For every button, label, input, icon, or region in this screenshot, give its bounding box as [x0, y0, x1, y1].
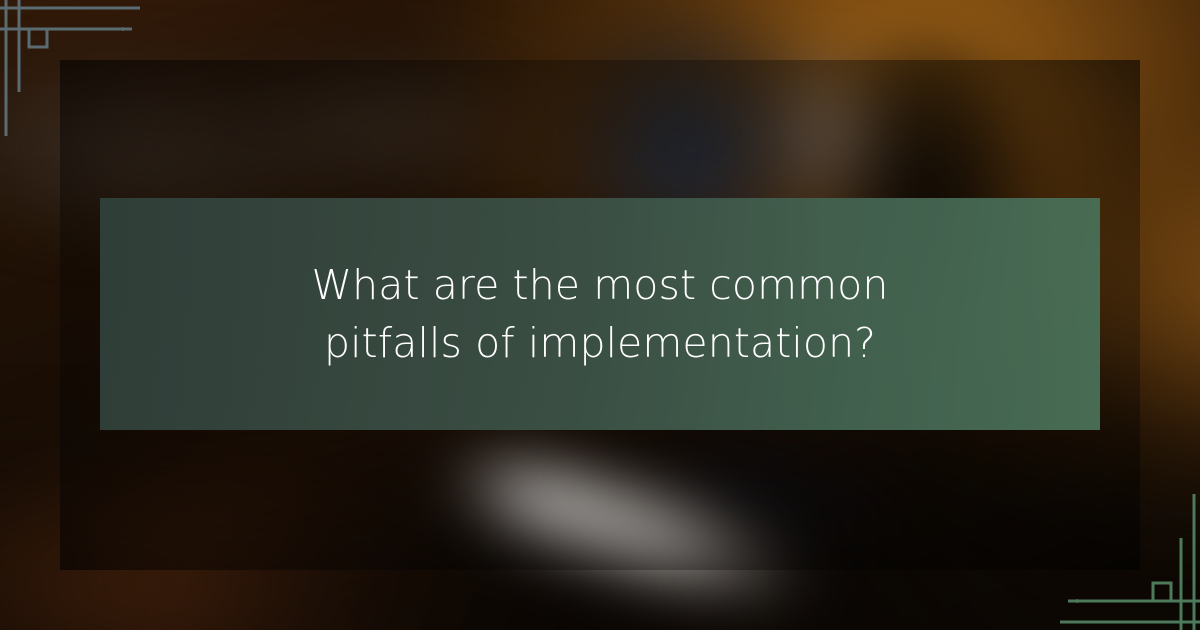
quote-banner: What are the most common pitfalls of imp… [100, 198, 1100, 430]
quote-card: What are the most common pitfalls of imp… [0, 0, 1200, 630]
quote-text: What are the most common pitfalls of imp… [250, 256, 950, 372]
